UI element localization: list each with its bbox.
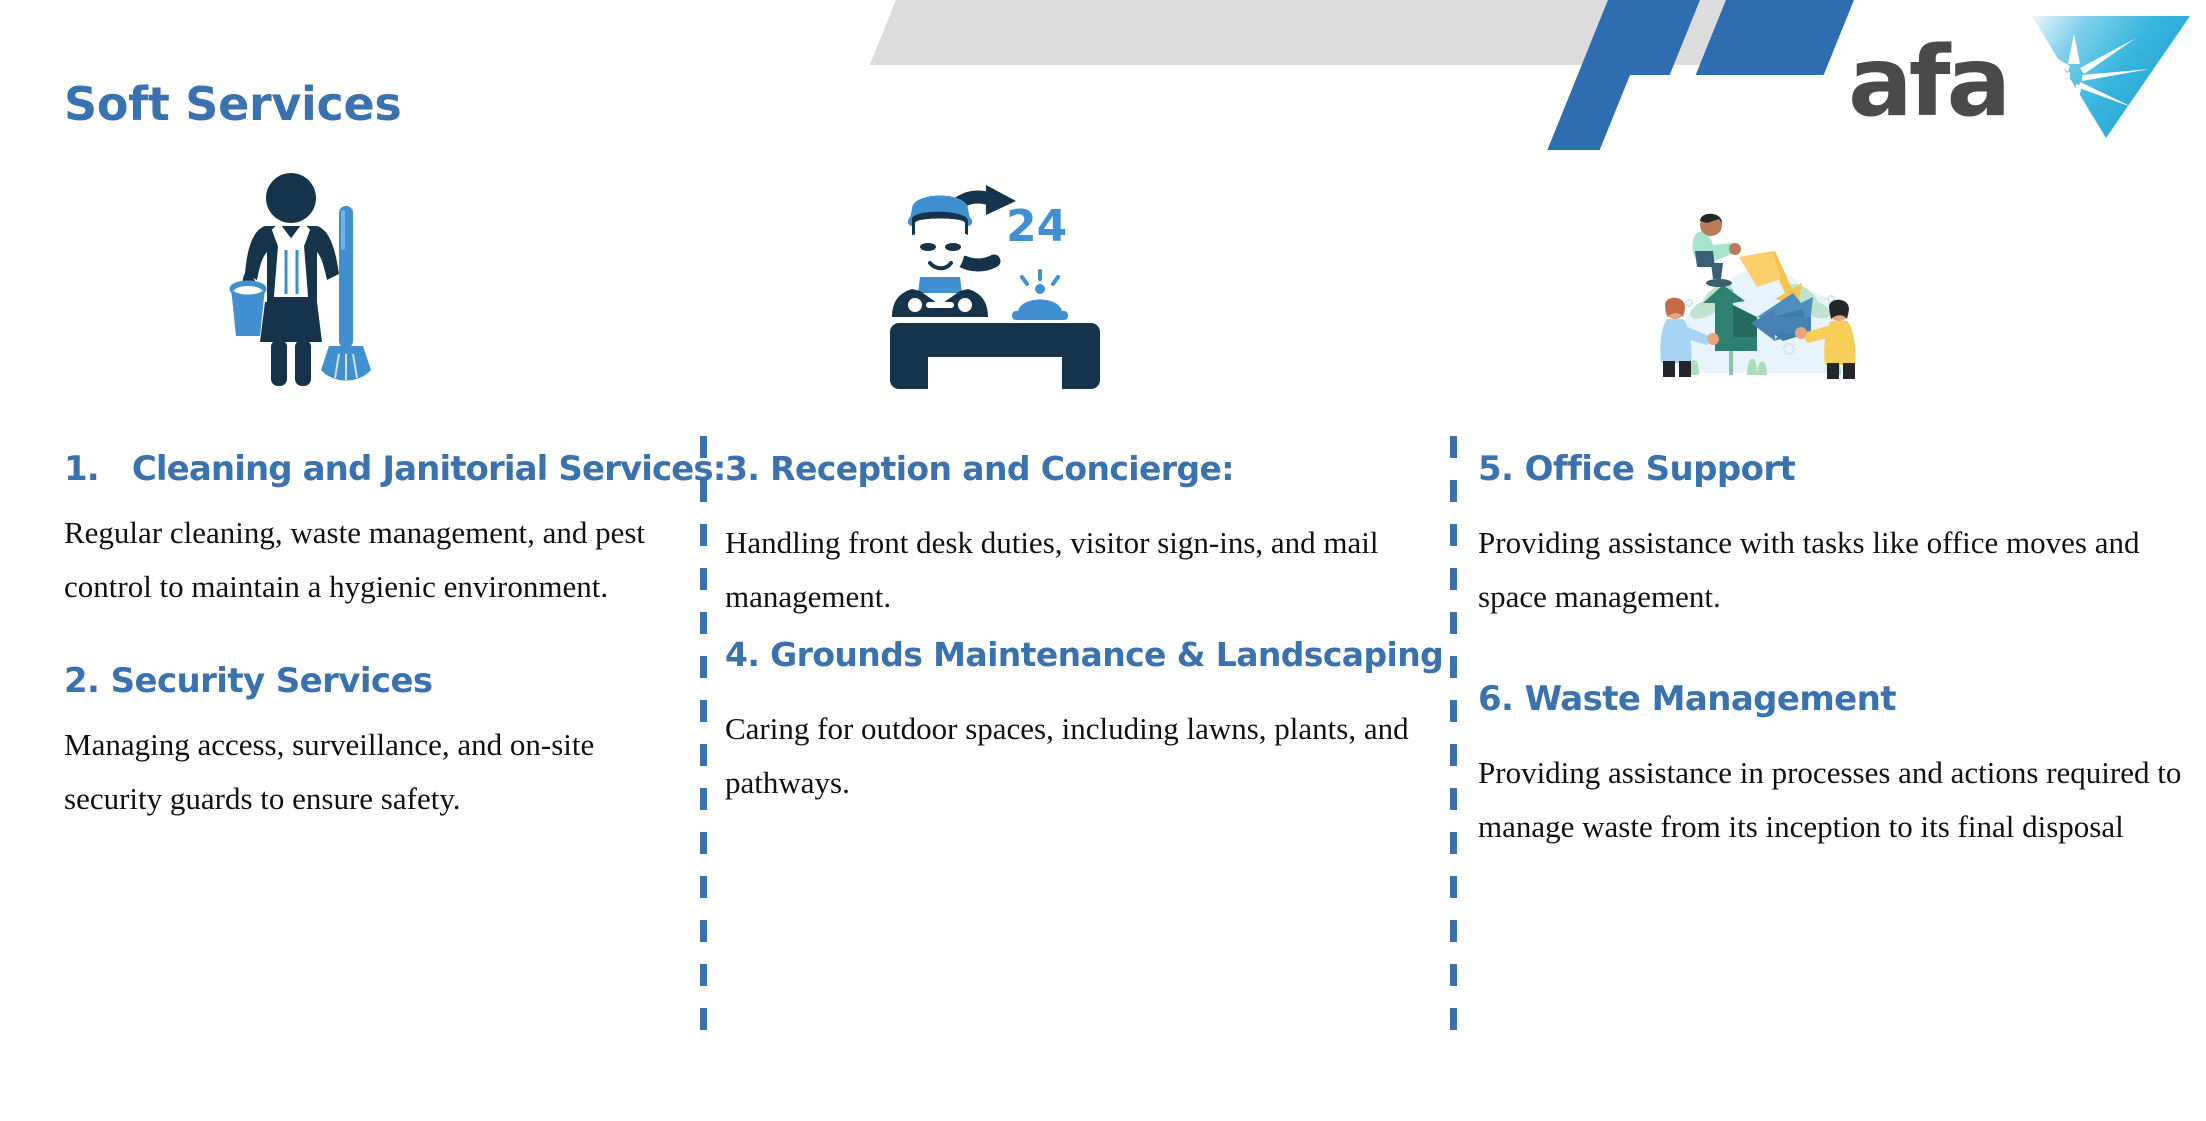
service-block-list: 1. Cleaning and Janitorial Services: Reg…	[64, 448, 689, 826]
spacer	[64, 614, 689, 660]
dashed-divider-2	[1450, 436, 1457, 1052]
service-heading: 3. Reception and Concierge:	[725, 448, 1443, 490]
service-item: 6. Waste Management Providing assistance…	[1478, 678, 2206, 854]
reception-concierge-24-icon: 24	[725, 140, 1443, 390]
service-item: 2. Security Services Managing access, su…	[64, 660, 689, 826]
starburst-triangle-icon	[2030, 12, 2192, 142]
service-block-list: 5. Office Support Providing assistance w…	[1478, 448, 2206, 854]
blue-parallelogram-1	[1547, 0, 1704, 150]
blue-parallelogram-2	[1665, 0, 1858, 150]
services-column-2: 24	[725, 140, 1443, 810]
page-title: Soft Services	[64, 78, 401, 130]
gray-band-shape-2	[1560, 0, 1790, 65]
dashed-divider-1	[700, 436, 707, 1052]
service-body: Managing access, surveillance, and on-si…	[64, 718, 689, 826]
spacer	[725, 624, 1443, 634]
recycling-waste-people-illustration	[1478, 140, 2206, 390]
svg-text:24: 24	[1006, 201, 1067, 252]
services-column-3: 5. Office Support Providing assistance w…	[1478, 140, 2206, 854]
service-block-list: 3. Reception and Concierge: Handling fro…	[725, 448, 1443, 810]
service-body: Providing assistance in processes and ac…	[1478, 746, 2206, 854]
spacer	[1478, 624, 2206, 678]
service-heading: 2. Security Services	[64, 660, 689, 702]
service-item: 5. Office Support Providing assistance w…	[1478, 448, 2206, 624]
service-body: Regular cleaning, waste management, and …	[64, 506, 689, 614]
service-body: Handling front desk duties, visitor sign…	[725, 516, 1443, 624]
service-heading: 4. Grounds Maintenance & Landscaping	[725, 634, 1443, 676]
service-item: 3. Reception and Concierge: Handling fro…	[725, 448, 1443, 624]
service-heading: 5. Office Support	[1478, 448, 2206, 490]
cleaning-janitor-icon	[64, 140, 689, 390]
service-heading: 1. Cleaning and Janitorial Services:	[64, 448, 689, 490]
service-item: 1. Cleaning and Janitorial Services: Reg…	[64, 448, 689, 614]
services-column-1: 1. Cleaning and Janitorial Services: Reg…	[64, 140, 689, 826]
service-body: Caring for outdoor spaces, including law…	[725, 702, 1443, 810]
afa-logo: afa	[1848, 8, 2198, 138]
service-heading: 6. Waste Management	[1478, 678, 2206, 720]
logo-wordmark: afa	[1848, 34, 2007, 130]
service-item: 4. Grounds Maintenance & Landscaping Car…	[725, 634, 1443, 810]
gray-band-shape	[870, 0, 1640, 65]
service-body: Providing assistance with tasks like off…	[1478, 516, 2206, 624]
